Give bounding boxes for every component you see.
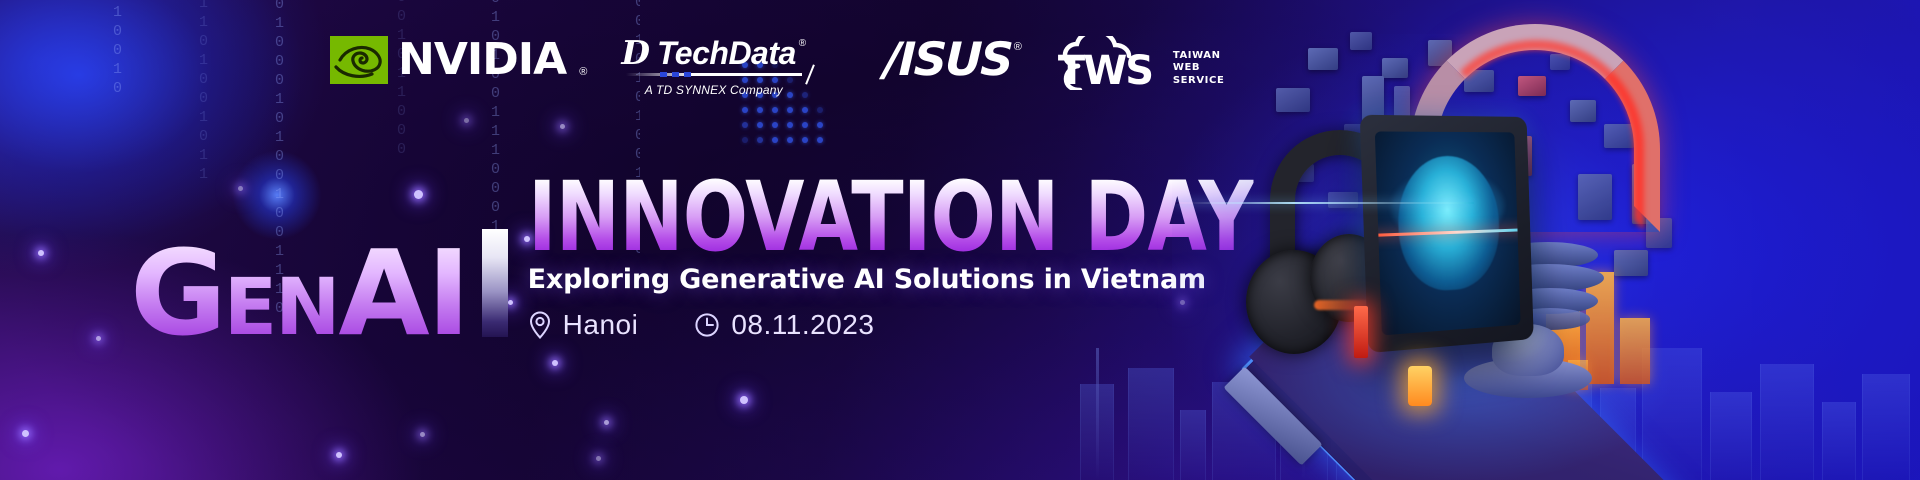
nvidia-eye-icon <box>330 36 388 84</box>
genai-en: EN <box>224 263 339 353</box>
genai-g: G <box>130 224 224 362</box>
location-pin-icon <box>528 310 552 340</box>
clock-icon <box>694 312 720 338</box>
particle <box>38 250 44 256</box>
nvidia-trademark: ® <box>579 66 587 78</box>
red-neon-post <box>1354 306 1368 358</box>
techdata-tagline: A TD SYNNEX Company <box>645 83 783 97</box>
ai-face <box>1396 156 1501 293</box>
event-banner: 0010010 1101000101001001110001 0 1001010… <box>0 0 1920 480</box>
binary-column: 0010010 <box>110 0 125 99</box>
horizontal-light-beam <box>1174 202 1474 204</box>
particle <box>336 452 342 458</box>
meta-date: 08.11.2023 <box>694 309 874 341</box>
particle <box>596 456 601 461</box>
particle <box>560 124 565 129</box>
particle <box>420 432 425 437</box>
techdata-monogram: D <box>621 36 650 69</box>
ai-isometric-illustration <box>1232 14 1702 466</box>
techdata-trademark: ® <box>799 38 806 49</box>
genai-lockup: GENAI <box>130 244 468 343</box>
tws-wordmark: TWS <box>1058 51 1152 91</box>
binary-column: 01101001011 <box>196 0 211 185</box>
asus-wordmark: /ISUS <box>883 36 1012 82</box>
headline-main: INNOVATION DAY <box>528 178 1254 257</box>
partner-logo-row: NVIDIA ® D TechData ® A TD SYNNEX Compan… <box>330 36 1224 97</box>
particle <box>604 420 609 425</box>
genai-ai: AI <box>338 224 467 362</box>
particle <box>464 118 469 123</box>
tablet-device <box>1360 115 1534 353</box>
logo-nvidia[interactable]: NVIDIA ® <box>330 36 587 84</box>
nvidia-wordmark: NVIDIA <box>398 38 566 82</box>
tws-mark: TWS <box>1058 36 1166 90</box>
glowing-lamp <box>1408 366 1432 406</box>
techdata-rule <box>626 73 802 76</box>
logo-tech-data[interactable]: D TechData ® A TD SYNNEX Company <box>621 36 806 97</box>
particle <box>740 396 748 404</box>
logo-asus[interactable]: /ISUS ® <box>884 36 1022 82</box>
asus-trademark: ® <box>1014 41 1022 53</box>
meta-location-label: Hanoi <box>563 309 639 341</box>
particle <box>96 336 101 341</box>
headline-divider <box>482 229 508 337</box>
techdata-squares <box>660 72 691 77</box>
meta-location: Hanoi <box>528 309 639 341</box>
tablet-screen <box>1375 131 1521 335</box>
meta-date-label: 08.11.2023 <box>731 309 874 341</box>
techdata-wordmark: TechData <box>657 37 796 69</box>
particle <box>22 430 29 437</box>
particle <box>552 360 558 366</box>
